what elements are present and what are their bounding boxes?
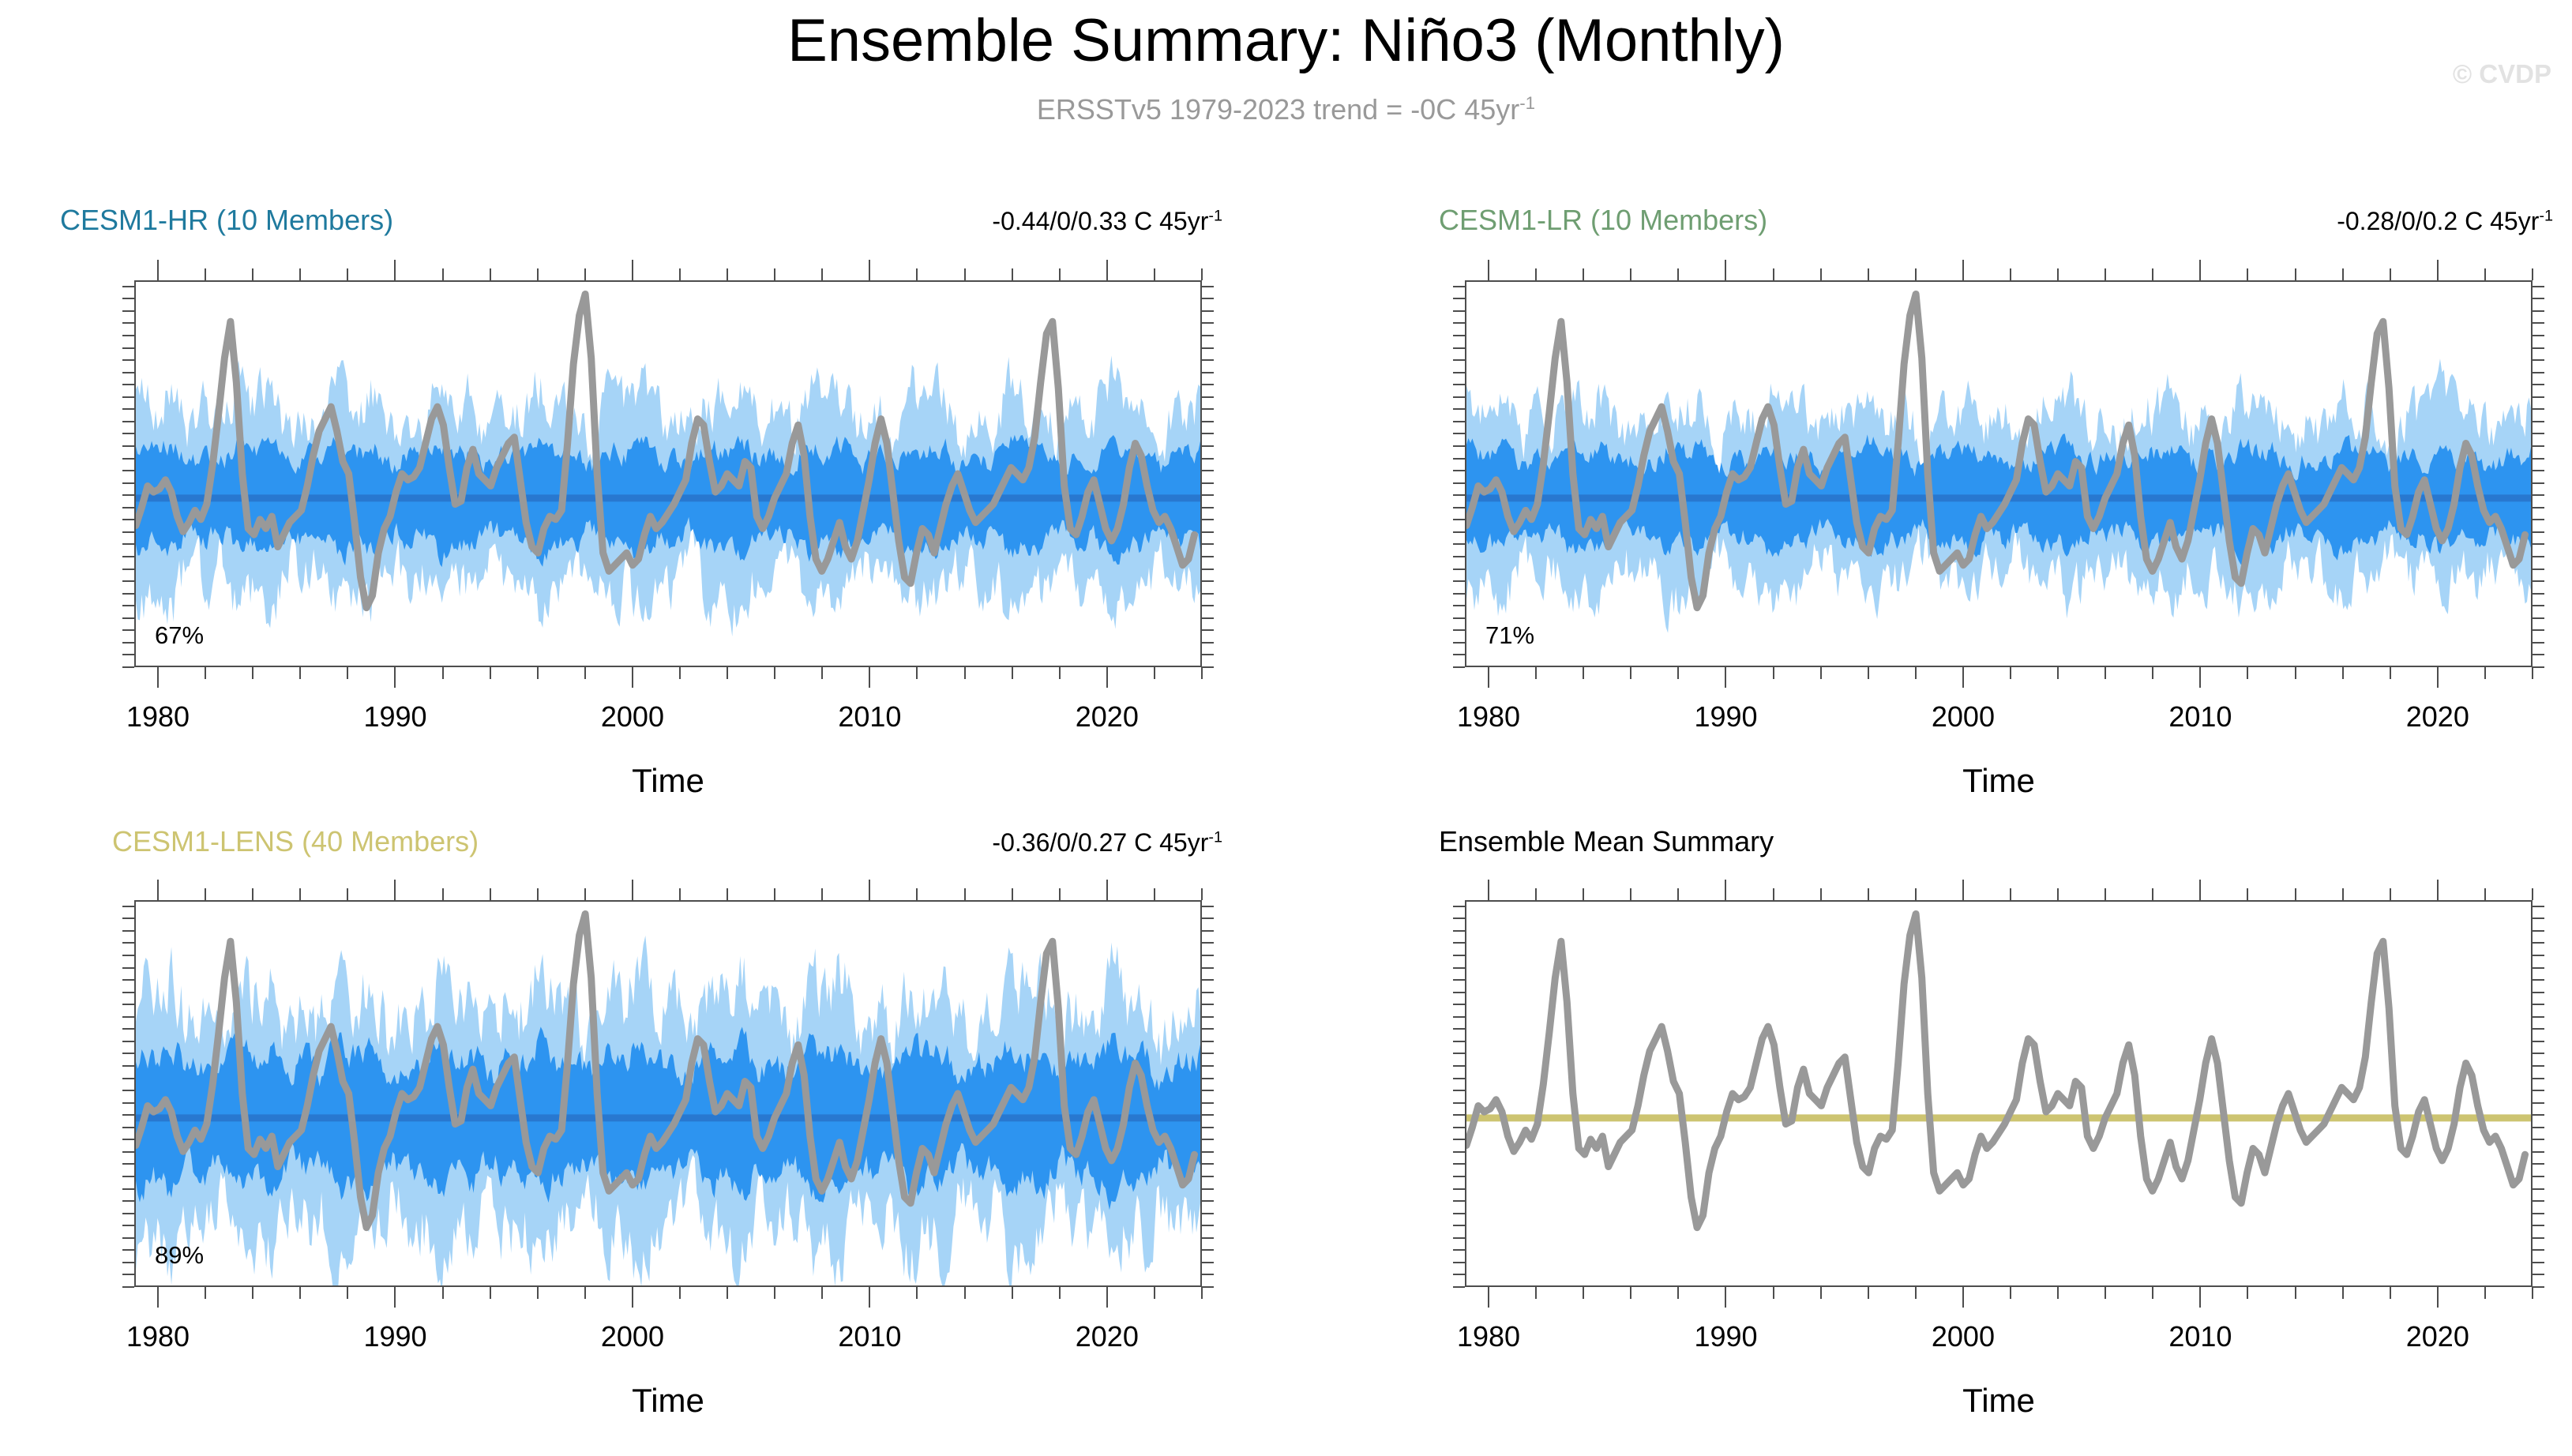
y-tick-minor [2533,629,2544,631]
y-tick-minor [1202,605,1214,606]
x-tick-major [157,260,159,280]
y-tick-minor [2533,322,2544,324]
percent-inside-label-lens: 89% [155,1241,204,1270]
x-tick-minor [537,888,539,900]
x-tick-major [157,880,159,900]
y-tick-minor [2533,1102,2544,1104]
x-tick-label: 2000 [601,700,664,734]
x-tick-minor [347,268,348,280]
y-tick-minor [1202,384,1214,385]
y-tick-minor [2533,445,2544,447]
x-tick-minor [821,1287,823,1299]
x-tick-major [1488,880,1489,900]
y-tick-minor [2533,519,2544,520]
y-tick-minor [2533,408,2544,410]
y-tick-minor [1453,654,1465,655]
y-tick-minor [1202,445,1214,447]
y-tick-minor [2533,531,2544,533]
y-tick-minor [1453,1188,1465,1190]
y-tick-minor [1202,1016,1214,1018]
x-tick-minor [2484,667,2486,679]
y-tick-minor [122,605,134,606]
y-tick-minor [122,1200,134,1202]
x-tick-minor [2010,268,2011,280]
y-tick-minor [122,494,134,496]
y-tick-minor [1453,543,1465,545]
y-tick-minor [1453,1102,1465,1104]
x-tick-minor [347,1287,348,1299]
x-tick-major [1488,260,1489,280]
x-tick-minor [1535,667,1537,679]
x-axis-title-lr: Time [1841,762,2157,800]
y-tick-minor [1202,1041,1214,1042]
y-tick-minor [2533,906,2544,907]
x-tick-minor [1630,1287,1631,1299]
y-tick-minor [2533,1127,2544,1128]
x-tick-label: 1990 [363,1320,426,1353]
x-tick-minor [1677,268,1679,280]
x-tick-minor [1583,1287,1584,1299]
x-tick-minor [442,667,444,679]
x-tick-minor [727,888,728,900]
y-tick-minor [2533,666,2544,668]
x-tick-minor [2010,667,2011,679]
x-tick-minor [299,888,301,900]
x-tick-label: 2020 [1076,1320,1139,1353]
x-tick-minor [2152,667,2153,679]
x-tick-label: 1980 [126,1320,190,1353]
y-tick-minor [1453,979,1465,981]
panel-trend-hr: -0.44/0/0.33 C 45yr-1 [992,207,1222,236]
y-tick-minor [2533,569,2544,570]
y-tick-minor [1202,1139,1214,1140]
x-tick-minor [1820,667,1822,679]
y-tick-minor [122,1188,134,1190]
y-tick-minor [1202,286,1214,287]
x-tick-minor [821,268,823,280]
x-tick-label: 1990 [363,700,426,734]
y-tick-minor [2533,942,2544,944]
x-tick-major [1106,260,1108,280]
x-tick-minor [252,888,253,900]
y-tick-minor [1453,1262,1465,1263]
x-tick-major [1725,880,1726,900]
y-tick-minor [122,979,134,981]
x-tick-minor [1820,1287,1822,1299]
x-tick-minor [2484,268,2486,280]
x-tick-major [2437,260,2439,280]
y-tick-minor [122,507,134,508]
y-tick-minor [1453,1200,1465,1202]
y-tick-minor [122,347,134,349]
x-tick-minor [1012,268,1013,280]
x-tick-major [1106,880,1108,900]
y-tick-minor [122,421,134,422]
x-tick-minor [1630,667,1631,679]
y-tick-minor [1202,942,1214,944]
y-tick-minor [122,372,134,373]
subtitle-superscript: -1 [1519,93,1535,113]
y-tick-minor [1202,1286,1214,1288]
y-tick-minor [2533,1262,2544,1263]
x-tick-minor [584,667,586,679]
x-tick-major [1725,1287,1726,1308]
x-tick-label: 2010 [2168,1320,2232,1353]
y-tick-minor [2533,1176,2544,1177]
y-tick-minor [1202,654,1214,655]
y-tick-minor [2533,384,2544,385]
x-axis-title-lens: Time [510,1382,826,1420]
x-tick-major [869,1287,870,1308]
y-tick-minor [1453,1078,1465,1079]
y-tick-minor [1202,979,1214,981]
x-tick-minor [2152,268,2153,280]
y-tick-minor [2533,507,2544,508]
x-tick-minor [1630,888,1631,900]
cvdp-watermark: © CVDP [2453,59,2551,89]
x-tick-minor [490,888,491,900]
y-tick-minor [1202,992,1214,993]
y-tick-minor [1202,1028,1214,1030]
y-tick-minor [1202,1262,1214,1263]
y-tick-minor [1202,1004,1214,1005]
y-tick-minor [1453,310,1465,312]
y-tick-minor [1453,918,1465,919]
y-tick-minor [1202,906,1214,907]
y-tick-minor [1202,347,1214,349]
x-tick-label: 1990 [1694,700,1757,734]
y-tick-minor [2533,1065,2544,1067]
y-tick-minor [122,930,134,932]
x-tick-minor [2247,1287,2248,1299]
x-tick-minor [299,1287,301,1299]
x-tick-label: 2010 [838,1320,901,1353]
y-tick-minor [1453,384,1465,385]
x-tick-minor [442,888,444,900]
y-tick-minor [2533,642,2544,644]
x-tick-minor [916,888,918,900]
trend-text: -0.28/0/0.2 C 45yr [2337,207,2539,235]
x-tick-major [1962,260,1964,280]
x-tick-minor [2390,667,2391,679]
x-tick-minor [1201,268,1203,280]
y-tick-minor [122,967,134,969]
x-tick-minor [442,1287,444,1299]
y-tick-minor [1453,494,1465,496]
x-tick-minor [1154,888,1155,900]
y-tick-minor [2533,1200,2544,1202]
y-tick-minor [1453,458,1465,460]
x-tick-minor [2247,268,2248,280]
y-tick-minor [122,458,134,460]
x-tick-minor [252,667,253,679]
trend-text: -0.36/0/0.27 C 45yr [992,828,1208,857]
x-tick-minor [1059,1287,1061,1299]
x-tick-minor [1535,268,1537,280]
percent-inside-label-lr: 71% [1485,621,1534,650]
y-tick-minor [1202,918,1214,919]
y-tick-minor [1453,1041,1465,1042]
x-tick-minor [2295,268,2296,280]
x-tick-minor [2342,667,2344,679]
y-tick-minor [2533,470,2544,471]
y-tick-minor [1453,992,1465,993]
y-tick-minor [1453,1163,1465,1165]
y-tick-minor [1202,1090,1214,1091]
y-tick-minor [1453,1004,1465,1005]
y-tick-minor [1453,955,1465,956]
x-tick-minor [205,667,206,679]
y-tick-minor [122,1176,134,1177]
x-tick-minor [2295,888,2296,900]
y-tick-minor [1453,1016,1465,1018]
x-tick-minor [1915,667,1917,679]
y-tick-minor [1202,1163,1214,1165]
x-tick-minor [727,1287,728,1299]
y-tick-minor [2533,1114,2544,1116]
x-tick-minor [2390,1287,2391,1299]
y-tick-minor [1453,1065,1465,1067]
y-tick-minor [2533,593,2544,595]
y-tick-minor [2533,967,2544,969]
y-tick-minor [1453,605,1465,606]
x-tick-label: 2020 [2406,700,2469,734]
y-tick-minor [122,445,134,447]
y-tick-minor [1202,1225,1214,1226]
x-tick-minor [490,1287,491,1299]
y-tick-minor [1453,1237,1465,1239]
x-tick-minor [252,268,253,280]
x-tick-major [1725,260,1726,280]
y-tick-minor [1453,1225,1465,1226]
panel-title-lr: CESM1-LR (10 Members) [1439,204,1767,237]
y-tick-minor [2533,1188,2544,1190]
x-tick-major [632,1287,633,1308]
y-tick-minor [2533,1151,2544,1153]
y-tick-minor [1202,372,1214,373]
x-tick-minor [679,1287,681,1299]
x-tick-label: 2000 [1932,700,1995,734]
x-tick-major [1725,667,1726,688]
x-tick-minor [2390,268,2391,280]
x-tick-minor [2342,268,2344,280]
y-tick-minor [1453,1114,1465,1116]
y-tick-minor [122,384,134,385]
y-tick-minor [122,593,134,595]
y-tick-minor [122,654,134,655]
x-tick-minor [2532,667,2533,679]
y-tick-minor [1453,967,1465,969]
x-tick-minor [1820,268,1822,280]
x-tick-minor [2295,667,2296,679]
trend-text: -0.44/0/0.33 C 45yr [992,207,1208,235]
x-tick-minor [442,268,444,280]
x-tick-minor [1535,888,1537,900]
y-tick-minor [2533,1139,2544,1140]
x-tick-minor [2247,667,2248,679]
x-tick-minor [2152,1287,2153,1299]
y-tick-minor [1202,930,1214,932]
x-tick-minor [2057,667,2059,679]
x-tick-major [632,667,633,688]
y-tick-minor [1202,1078,1214,1079]
y-tick-minor [2533,421,2544,422]
y-tick-minor [2533,310,2544,312]
y-tick-minor [122,642,134,644]
y-tick-minor [122,1213,134,1214]
percent-inside-label-hr: 67% [155,621,204,650]
y-tick-minor [2533,580,2544,582]
y-tick-minor [1202,642,1214,644]
y-tick-minor [1453,482,1465,484]
series-canvas-hr [136,282,1200,666]
x-tick-major [1962,880,1964,900]
y-tick-minor [122,1163,134,1165]
y-tick-minor [2533,979,2544,981]
y-tick-minor [1202,593,1214,595]
y-tick-minor [1453,445,1465,447]
y-tick-minor [1202,408,1214,410]
y-tick-minor [2533,1016,2544,1018]
y-tick-minor [122,1225,134,1226]
x-tick-minor [2105,268,2106,280]
y-tick-minor [1453,347,1465,349]
y-tick-minor [1453,286,1465,287]
x-tick-minor [1012,888,1013,900]
x-axis-title-hr: Time [510,762,826,800]
y-tick-minor [2533,359,2544,361]
x-tick-minor [1535,1287,1537,1299]
y-tick-minor [122,1127,134,1128]
series-canvas-lr [1466,282,2531,666]
y-tick-minor [2533,494,2544,496]
plot-clip-mean [1466,902,2531,1285]
y-tick-minor [2533,1028,2544,1030]
x-tick-minor [1868,268,1869,280]
y-tick-minor [1202,470,1214,471]
y-tick-minor [2533,1225,2544,1226]
x-tick-minor [1201,667,1203,679]
y-tick-minor [1202,359,1214,361]
x-tick-major [1106,667,1108,688]
x-tick-major [2199,1287,2201,1308]
x-tick-minor [964,1287,966,1299]
x-tick-major [2437,1287,2439,1308]
y-tick-minor [2533,372,2544,373]
y-tick-minor [2533,1274,2544,1275]
y-tick-minor [1453,1286,1465,1288]
x-tick-minor [299,667,301,679]
y-tick-minor [1453,1053,1465,1054]
x-tick-label: 1980 [1457,1320,1520,1353]
y-tick-minor [2533,930,2544,932]
plot-clip-lr [1466,282,2531,666]
x-tick-minor [2152,888,2153,900]
x-tick-major [2437,880,2439,900]
x-tick-minor [584,888,586,900]
y-tick-minor [2533,543,2544,545]
x-tick-minor [1868,888,1869,900]
x-tick-minor [679,888,681,900]
x-tick-minor [964,888,966,900]
y-tick-minor [1202,1065,1214,1067]
x-tick-minor [1677,1287,1679,1299]
y-tick-minor [1202,494,1214,496]
x-tick-minor [490,667,491,679]
y-tick-minor [1202,335,1214,336]
x-tick-minor [2295,1287,2296,1299]
trend-superscript: -1 [1208,828,1222,846]
x-tick-minor [2484,1287,2486,1299]
y-tick-minor [2533,955,2544,956]
y-tick-minor [1453,322,1465,324]
x-tick-minor [774,1287,775,1299]
y-tick-minor [1453,1139,1465,1140]
y-tick-minor [1453,335,1465,336]
y-tick-minor [2533,1163,2544,1165]
x-tick-minor [1868,667,1869,679]
x-tick-major [869,880,870,900]
x-tick-major [394,260,396,280]
y-tick-minor [1453,1028,1465,1030]
y-tick-minor [1202,1053,1214,1054]
y-tick-minor [122,310,134,312]
y-tick-minor [2533,396,2544,398]
x-tick-minor [1630,268,1631,280]
observation-line [1466,914,2525,1227]
y-tick-minor [122,580,134,582]
y-tick-minor [1202,1114,1214,1116]
x-tick-label: 2000 [1932,1320,1995,1353]
y-tick-minor [1453,1274,1465,1275]
figure-subtitle: ERSSTv5 1979-2023 trend = -0C 45yr-1 [0,93,2572,126]
x-tick-minor [774,667,775,679]
y-tick-minor [1202,580,1214,582]
x-tick-major [394,667,396,688]
y-tick-minor [122,543,134,545]
y-tick-minor [122,396,134,398]
x-tick-minor [347,888,348,900]
y-tick-minor [1453,1176,1465,1177]
x-tick-minor [537,667,539,679]
x-tick-minor [1915,268,1917,280]
x-tick-minor [2390,888,2391,900]
x-tick-label: 1980 [126,700,190,734]
x-tick-major [2437,667,2439,688]
page-title: Ensemble Summary: Niño3 (Monthly) [0,6,2572,75]
y-tick-minor [122,569,134,570]
y-tick-minor [122,1016,134,1018]
y-tick-minor [1453,408,1465,410]
x-tick-minor [2057,1287,2059,1299]
y-tick-minor [2533,1249,2544,1251]
x-tick-minor [2105,1287,2106,1299]
plot-clip-lens [136,902,1200,1285]
y-tick-minor [1202,1200,1214,1202]
y-tick-minor [1202,482,1214,484]
x-tick-major [869,667,870,688]
y-tick-minor [1453,421,1465,422]
plot-area-hr: 67% [134,280,1202,667]
x-tick-minor [727,268,728,280]
x-tick-minor [2484,888,2486,900]
x-tick-minor [584,268,586,280]
x-tick-minor [2342,1287,2344,1299]
y-tick-minor [1453,617,1465,619]
y-tick-minor [122,286,134,287]
y-tick-minor [122,1028,134,1030]
y-tick-minor [1453,519,1465,520]
